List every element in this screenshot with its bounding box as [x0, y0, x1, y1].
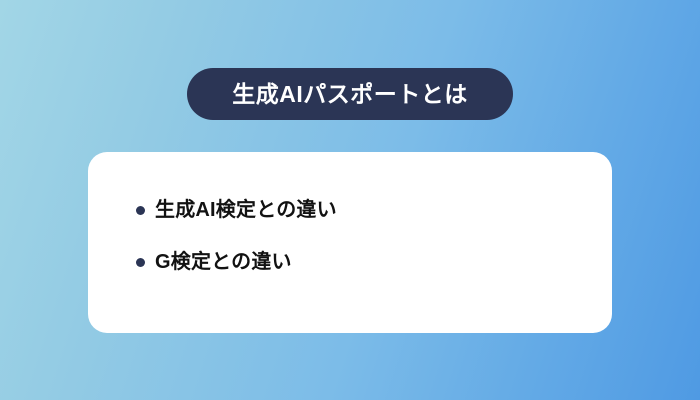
list-item-label: G検定との違い [155, 250, 292, 274]
title-pill: 生成AIパスポートとは [187, 68, 513, 120]
list-item-label: 生成AI検定との違い [155, 198, 337, 222]
page-title: 生成AIパスポートとは [232, 83, 468, 106]
bullet-dot-icon [136, 206, 145, 215]
content-card: 生成AI検定との違い G検定との違い [88, 152, 612, 333]
list-item[interactable]: 生成AI検定との違い [136, 198, 612, 222]
list-item[interactable]: G検定との違い [136, 250, 612, 274]
bullet-dot-icon [136, 258, 145, 267]
slide-canvas: 生成AIパスポートとは 生成AI検定との違い G検定との違い [0, 0, 700, 400]
